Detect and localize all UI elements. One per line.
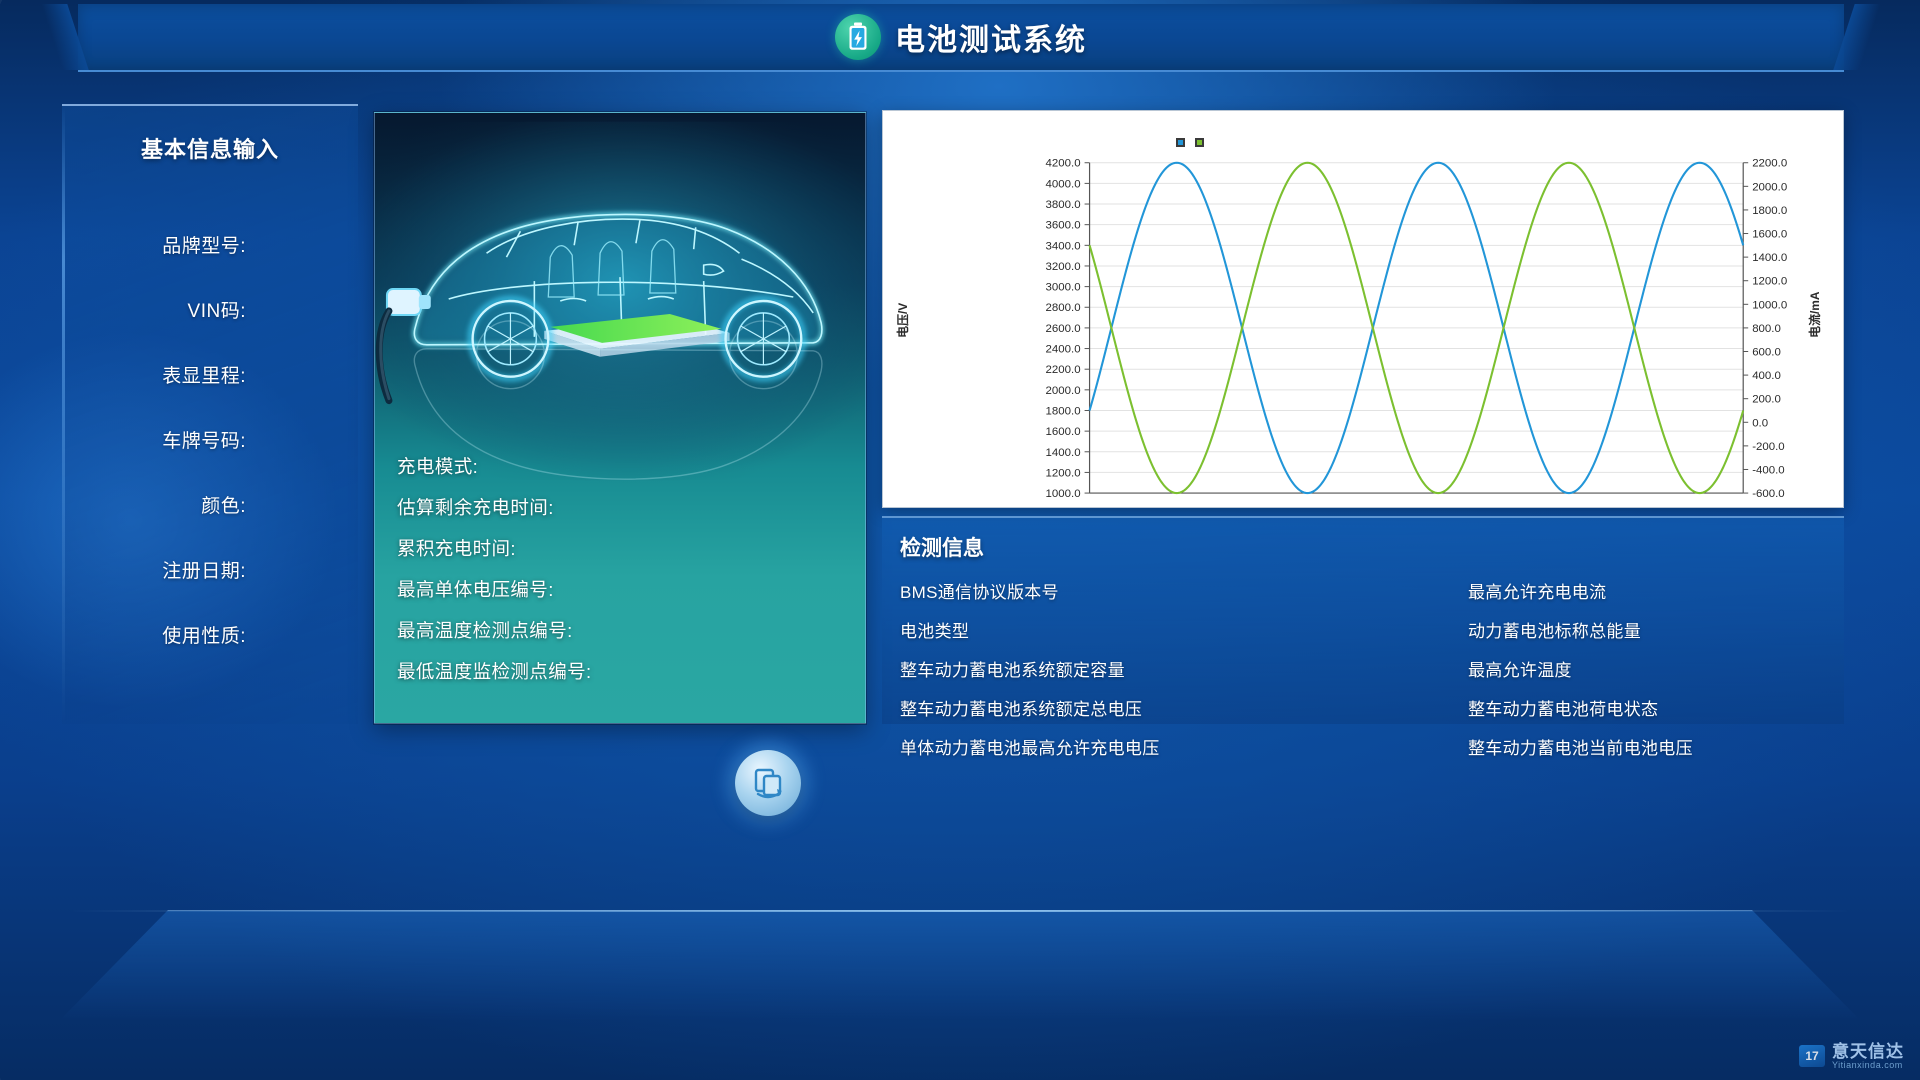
- detect-item-max-charge-current[interactable]: 最高允许充电电流: [1360, 578, 1820, 603]
- svg-text:2200.0: 2200.0: [1752, 158, 1787, 170]
- svg-text:3200.0: 3200.0: [1046, 261, 1081, 273]
- svg-text:3000.0: 3000.0: [1046, 282, 1081, 294]
- detection-info-grid: BMS通信协议版本号 最高允许充电电流 电池类型 动力蓄电池标称总能量 整车动力…: [900, 578, 1820, 759]
- svg-text:2000.0: 2000.0: [1046, 385, 1081, 397]
- svg-text:400.0: 400.0: [1752, 370, 1781, 382]
- svg-text:200.0: 200.0: [1752, 394, 1781, 406]
- field-label: 颜色:: [201, 491, 246, 518]
- field-label: 注册日期:: [162, 556, 246, 583]
- svg-text:2200.0: 2200.0: [1046, 364, 1081, 376]
- bottom-plate: [60, 910, 1860, 1020]
- field-label: 最高温度检测点编号:: [397, 617, 573, 643]
- center-row-max-temp-point-id[interactable]: 最高温度检测点编号:: [397, 609, 855, 650]
- svg-text:800.0: 800.0: [1752, 323, 1781, 335]
- field-label: 充电模式:: [397, 453, 478, 479]
- bottom-stage: [0, 760, 1920, 1080]
- detect-item-state-of-charge[interactable]: 整车动力蓄电池荷电状态: [1360, 695, 1820, 720]
- battery-bolt-icon: [835, 14, 881, 60]
- svg-text:600.0: 600.0: [1752, 346, 1781, 358]
- watermark: 17 意天信达 Yitianxinda.com: [1799, 1043, 1904, 1070]
- svg-text:2000.0: 2000.0: [1752, 181, 1787, 193]
- center-row-min-temp-point-id[interactable]: 最低温度监检测点编号:: [397, 650, 855, 691]
- field-label: 累积充电时间:: [397, 535, 516, 561]
- field-row-color[interactable]: 颜色:: [62, 472, 358, 537]
- svg-text:4200.0: 4200.0: [1046, 158, 1081, 170]
- center-row-remaining-time[interactable]: 估算剩余充电时间:: [397, 486, 855, 527]
- basic-info-panel: 基本信息输入 品牌型号: VIN码: 表显里程: 车牌号码: 颜色: 注册日期:…: [62, 104, 358, 724]
- svg-text:3400.0: 3400.0: [1046, 240, 1081, 252]
- svg-text:1600.0: 1600.0: [1046, 426, 1081, 438]
- svg-text:0.0: 0.0: [1752, 417, 1768, 429]
- field-label: 表显里程:: [162, 361, 246, 388]
- detect-item-nominal-total-energy[interactable]: 动力蓄电池标称总能量: [1360, 617, 1820, 642]
- page-title: 电池测试系统: [895, 15, 1087, 59]
- field-label: VIN码:: [188, 296, 246, 323]
- bottom-divider: [70, 910, 1850, 912]
- detect-item-current-battery-voltage[interactable]: 整车动力蓄电池当前电池电压: [1360, 734, 1820, 759]
- svg-text:1800.0: 1800.0: [1752, 205, 1787, 217]
- vehicle-charging-panel: 充电模式: 估算剩余充电时间: 累积充电时间: 最高单体电压编号: 最高温度检测…: [374, 112, 866, 724]
- field-row-plate-number[interactable]: 车牌号码:: [62, 407, 358, 472]
- chart-plot-area: 4200.04000.03800.03600.03400.03200.03000…: [883, 111, 1843, 507]
- refresh-device-button[interactable]: [735, 750, 801, 816]
- svg-text:1800.0: 1800.0: [1046, 405, 1081, 417]
- svg-text:-400.0: -400.0: [1752, 464, 1784, 476]
- watermark-main-text: 意天信达: [1832, 1043, 1904, 1061]
- field-row-usage-type[interactable]: 使用性质:: [62, 602, 358, 667]
- svg-text:1200.0: 1200.0: [1046, 467, 1081, 479]
- field-label: 最高单体电压编号:: [397, 576, 554, 602]
- basic-info-title: 基本信息输入: [62, 132, 358, 164]
- detection-info-title: 检测信息: [900, 532, 1844, 562]
- detect-item-rated-capacity[interactable]: 整车动力蓄电池系统额定容量: [900, 656, 1360, 681]
- field-label: 使用性质:: [162, 621, 246, 648]
- field-label: 车牌号码:: [162, 426, 246, 453]
- svg-text:2800.0: 2800.0: [1046, 302, 1081, 314]
- field-row-mileage[interactable]: 表显里程:: [62, 342, 358, 407]
- field-row-brand-model[interactable]: 品牌型号:: [62, 212, 358, 277]
- svg-text:2400.0: 2400.0: [1046, 344, 1081, 356]
- charging-field-list: 充电模式: 估算剩余充电时间: 累积充电时间: 最高单体电压编号: 最高温度检测…: [397, 445, 855, 691]
- svg-text:1400.0: 1400.0: [1046, 447, 1081, 459]
- field-label: 品牌型号:: [162, 231, 246, 258]
- svg-text:4000.0: 4000.0: [1046, 178, 1081, 190]
- svg-text:电压/V: 电压/V: [895, 303, 910, 338]
- center-row-max-cell-voltage-id[interactable]: 最高单体电压编号:: [397, 568, 855, 609]
- field-row-registration-date[interactable]: 注册日期:: [62, 537, 358, 602]
- svg-text:-200.0: -200.0: [1752, 441, 1784, 453]
- svg-text:-600.0: -600.0: [1752, 488, 1784, 500]
- svg-text:1200.0: 1200.0: [1752, 276, 1787, 288]
- detect-item-bms-protocol-version[interactable]: BMS通信协议版本号: [900, 578, 1360, 603]
- center-row-charge-mode[interactable]: 充电模式:: [397, 445, 855, 486]
- detection-info-panel: 检测信息 BMS通信协议版本号 最高允许充电电流 电池类型 动力蓄电池标称总能量…: [882, 516, 1844, 724]
- detect-item-max-allowed-temperature[interactable]: 最高允许温度: [1360, 656, 1820, 681]
- basic-info-field-list: 品牌型号: VIN码: 表显里程: 车牌号码: 颜色: 注册日期: 使用性质:: [62, 212, 358, 667]
- field-label: 最低温度监检测点编号:: [397, 658, 592, 684]
- detect-item-rated-total-voltage[interactable]: 整车动力蓄电池系统额定总电压: [900, 695, 1360, 720]
- measurement-chart-panel: 4200.04000.03800.03600.03400.03200.03000…: [882, 110, 1844, 508]
- svg-text:3800.0: 3800.0: [1046, 199, 1081, 211]
- detect-item-battery-type[interactable]: 电池类型: [900, 617, 1360, 642]
- svg-text:电流/mA: 电流/mA: [1807, 291, 1822, 338]
- svg-text:1000.0: 1000.0: [1752, 299, 1787, 311]
- refresh-device-icon: [749, 764, 787, 802]
- svg-text:1600.0: 1600.0: [1752, 229, 1787, 241]
- svg-text:2600.0: 2600.0: [1046, 323, 1081, 335]
- svg-text:1000.0: 1000.0: [1046, 488, 1081, 500]
- svg-text:1400.0: 1400.0: [1752, 252, 1787, 264]
- detect-item-max-cell-charge-voltage[interactable]: 单体动力蓄电池最高允许充电电压: [900, 734, 1360, 759]
- field-row-vin[interactable]: VIN码:: [62, 277, 358, 342]
- svg-text:3600.0: 3600.0: [1046, 220, 1081, 232]
- center-row-total-charge-time[interactable]: 累积充电时间:: [397, 527, 855, 568]
- app-header: 电池测试系统: [78, 4, 1844, 72]
- watermark-sub-text: Yitianxinda.com: [1832, 1061, 1904, 1070]
- field-label: 估算剩余充电时间:: [397, 494, 554, 520]
- watermark-badge: 17: [1799, 1045, 1825, 1067]
- electric-vehicle-illustration: [375, 121, 865, 481]
